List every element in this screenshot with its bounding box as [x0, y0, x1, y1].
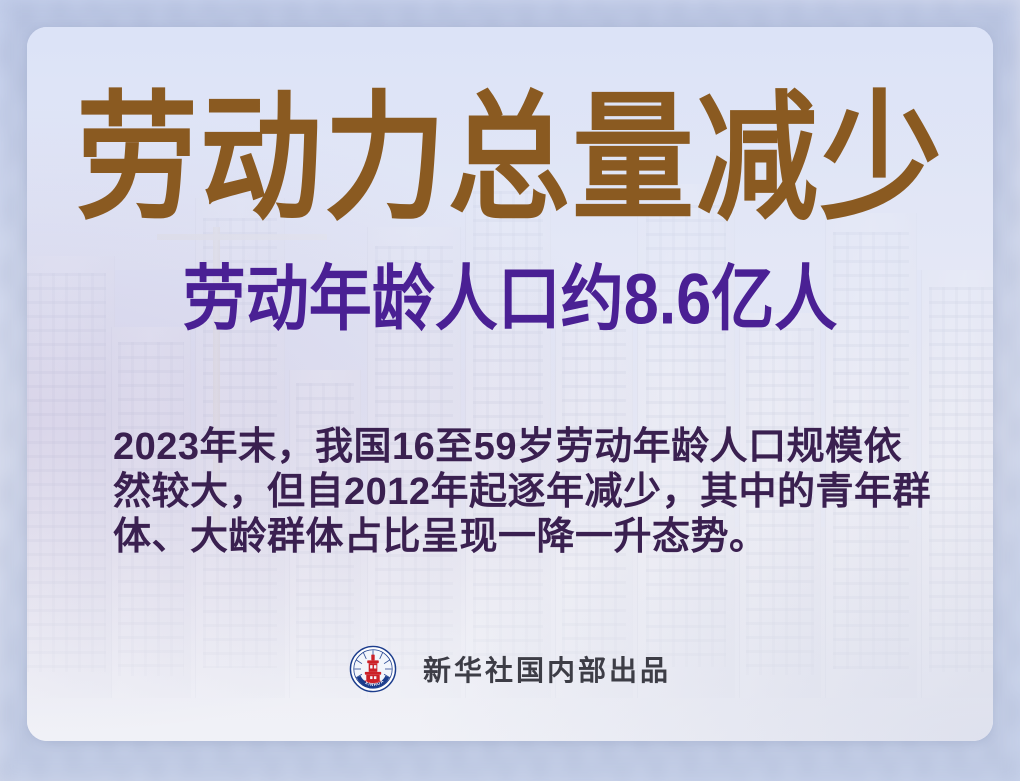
- footer-text: 新华社国内部出品: [423, 649, 671, 689]
- body-line: 然较大，但自2012年起逐年减少，其中的青年群: [113, 470, 933, 515]
- body-copy: 2023年末，我国16至59岁劳动年龄人口规模依 然较大，但自2012年起逐年减…: [113, 425, 933, 560]
- poster-content: 劳动力总量减少 劳动年龄人口约8.6亿人 2023年末，我国16至59岁劳动年龄…: [27, 27, 993, 741]
- footer: XINHUA 新华社国内部出品: [27, 645, 993, 693]
- headline: 劳动力总量减少: [63, 89, 957, 228]
- body-line: 体、大龄群体占比呈现一降一升态势。: [113, 515, 933, 560]
- poster-card: 劳动力总量减少 劳动年龄人口约8.6亿人 2023年末，我国16至59岁劳动年龄…: [27, 27, 993, 741]
- body-line: 2023年末，我国16至59岁劳动年龄人口规模依: [113, 425, 933, 470]
- xinhua-news-agency-logo: XINHUA: [349, 645, 397, 693]
- subheadline: 劳动年龄人口约8.6亿人: [63, 264, 957, 336]
- infographic-poster: 劳动力总量减少 劳动年龄人口约8.6亿人 2023年末，我国16至59岁劳动年龄…: [0, 0, 1020, 781]
